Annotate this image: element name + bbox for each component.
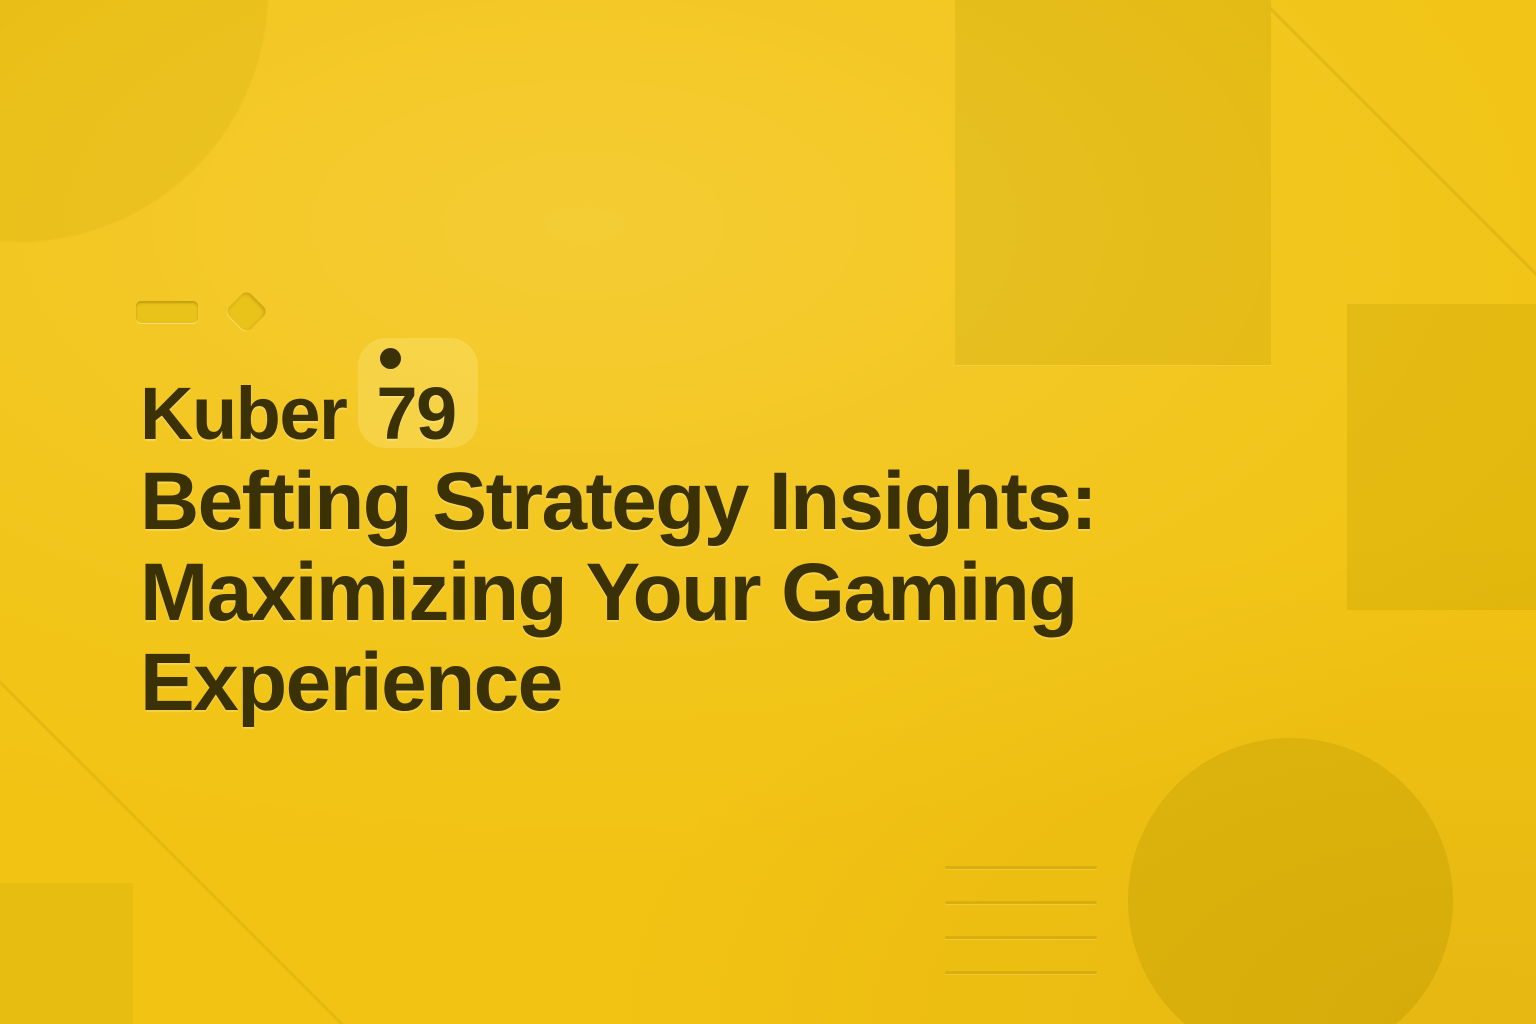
decorative-circle-top-left (0, 0, 268, 242)
brand-number: 79 (376, 372, 455, 455)
decorative-rule (945, 866, 1097, 869)
page-title: Befting Strategy Insights: Maximizing Yo… (140, 457, 1300, 728)
decorative-rule-group (945, 866, 1097, 974)
headline-line-3: Experience (140, 638, 1300, 728)
decorative-diagonal-line-top-right (1266, 4, 1536, 289)
decorative-circle-bottom-right (1128, 738, 1453, 1024)
brand-number-badge: 79 (366, 376, 465, 451)
brand-lockup: Kuber 79 (140, 376, 466, 451)
brand-name: Kuber (140, 376, 346, 451)
decorative-rectangle-right (1347, 304, 1536, 610)
decorative-rectangle-top-right (955, 0, 1271, 365)
diamond-mark-icon (225, 290, 269, 334)
decorative-rectangle-bottom-left (0, 883, 133, 1024)
decorative-rule (945, 971, 1097, 974)
decorative-rule (945, 936, 1097, 939)
pill-mark-icon (136, 301, 198, 323)
promo-banner: Kuber 79 Befting Strategy Insights: Maxi… (0, 0, 1536, 1024)
banner-content: Kuber 79 Befting Strategy Insights: Maxi… (140, 376, 1320, 728)
decorative-rule (945, 901, 1097, 904)
brand-marks (136, 296, 262, 327)
headline-line-2: Maximizing Your Gaming (140, 548, 1300, 638)
headline-line-1: Befting Strategy Insights: (140, 457, 1300, 547)
